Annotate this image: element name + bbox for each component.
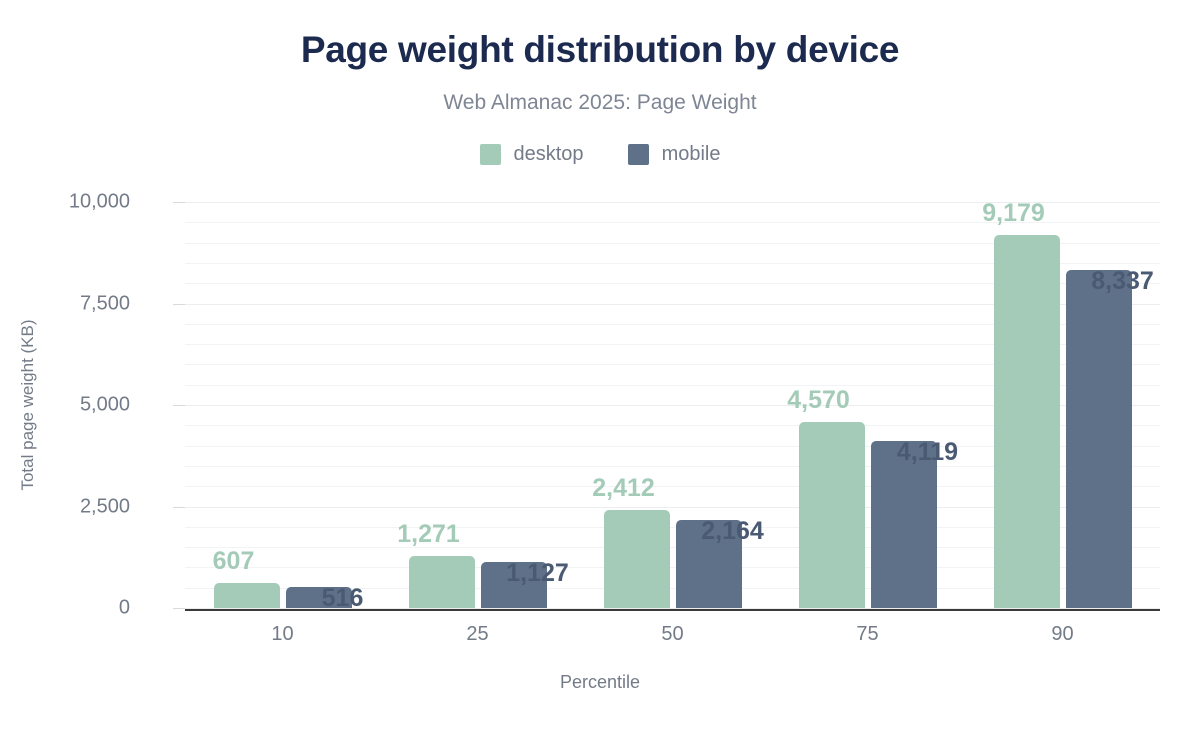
- y-tick-label: 5,000: [10, 394, 130, 417]
- bar-desktop-90[interactable]: [994, 235, 1060, 608]
- legend-label-desktop: desktop: [514, 143, 584, 166]
- x-tick-label-50: 50: [661, 623, 683, 646]
- x-tick-label-75: 75: [856, 623, 878, 646]
- bar-desktop-50[interactable]: [604, 510, 670, 608]
- data-label-mobile-50: 2,164: [701, 519, 764, 544]
- data-label-mobile-75: 4,119: [897, 440, 958, 465]
- plot-area: 02,5005,0007,50010,000607516101,2711,127…: [185, 202, 1160, 608]
- bar-desktop-10[interactable]: [214, 583, 280, 608]
- data-label-desktop-75: 4,570: [787, 388, 850, 413]
- y-tick-mark: [173, 507, 185, 508]
- legend-item-mobile[interactable]: mobile: [628, 143, 721, 166]
- y-tick-mark: [173, 608, 185, 609]
- legend-swatch-mobile: [628, 144, 649, 165]
- chart-container: Page weight distribution by device Web A…: [0, 0, 1200, 742]
- y-tick-label: 10,000: [10, 191, 130, 214]
- bar-desktop-75[interactable]: [799, 422, 865, 608]
- x-tick-label-25: 25: [466, 623, 488, 646]
- y-tick-label: 7,500: [10, 292, 130, 315]
- legend-item-desktop[interactable]: desktop: [480, 143, 584, 166]
- data-label-desktop-90: 9,179: [982, 201, 1045, 226]
- y-tick-label: 0: [10, 597, 130, 620]
- chart-legend: desktopmobile: [0, 143, 1200, 166]
- y-tick-mark: [173, 304, 185, 305]
- y-tick-mark: [173, 202, 185, 203]
- bar-mobile-90[interactable]: [1066, 270, 1132, 608]
- x-tick-label-90: 90: [1051, 623, 1073, 646]
- data-label-desktop-50: 2,412: [592, 476, 655, 501]
- x-axis-title: Percentile: [0, 672, 1200, 693]
- legend-label-mobile: mobile: [662, 143, 721, 166]
- data-label-mobile-10: 516: [322, 586, 364, 611]
- data-label-mobile-25: 1,127: [506, 561, 569, 586]
- bar-desktop-25[interactable]: [409, 556, 475, 608]
- y-tick-mark: [173, 405, 185, 406]
- data-label-desktop-25: 1,271: [397, 522, 460, 547]
- legend-swatch-desktop: [480, 144, 501, 165]
- bar-mobile-75[interactable]: [871, 441, 937, 608]
- x-tick-label-10: 10: [271, 623, 293, 646]
- chart-subtitle: Web Almanac 2025: Page Weight: [0, 90, 1200, 115]
- data-label-desktop-10: 607: [213, 549, 255, 574]
- data-label-mobile-90: 8,337: [1091, 269, 1154, 294]
- chart-title: Page weight distribution by device: [0, 30, 1200, 71]
- y-tick-label: 2,500: [10, 495, 130, 518]
